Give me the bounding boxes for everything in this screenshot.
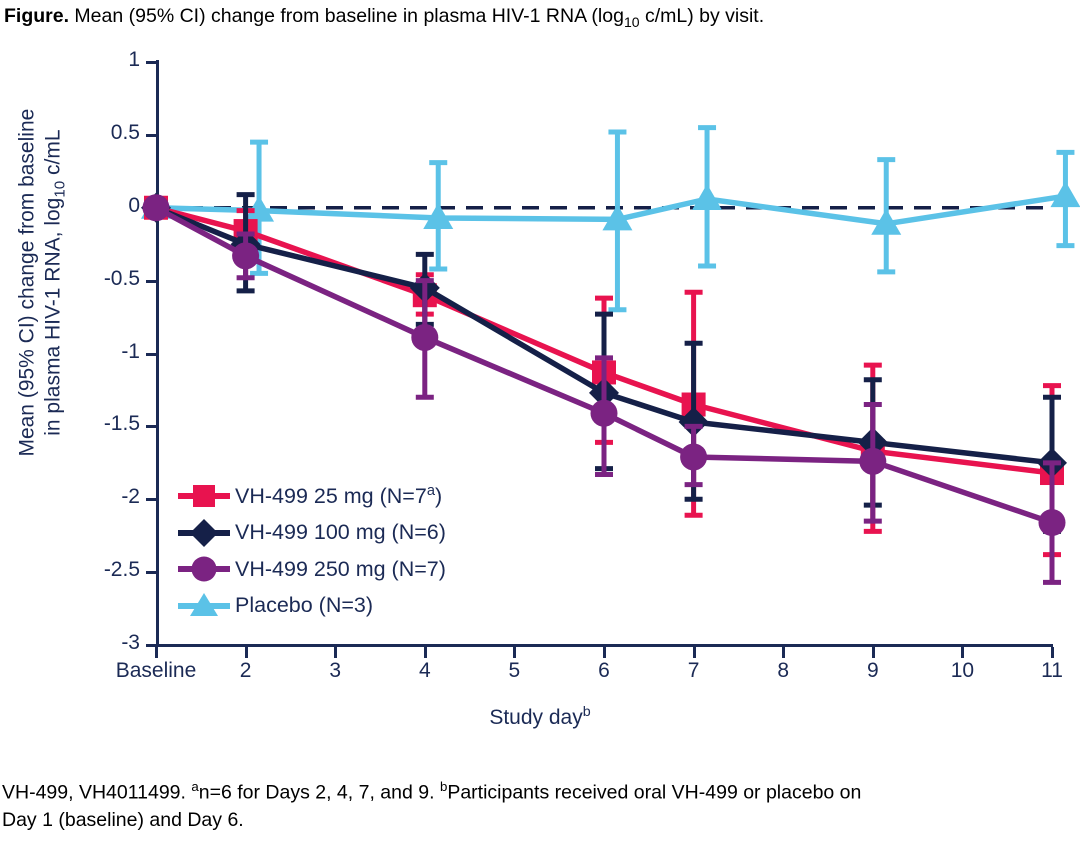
- x-axis-tick-label: 11: [1041, 659, 1063, 683]
- y-axis-tick: [146, 425, 156, 428]
- figure-caption: Figure. Mean (95% CI) change from baseli…: [4, 4, 1076, 31]
- legend-label-text-end: ): [435, 484, 442, 508]
- x-axis-title-text: Study day: [489, 706, 582, 729]
- legend-label: VH-499 250 mg (N=7): [235, 557, 446, 582]
- x-axis-title-superscript-b: b: [583, 704, 591, 720]
- x-axis-tick: [961, 647, 964, 658]
- x-axis-tick: [245, 647, 248, 658]
- caption-text-a: Mean (95% CI) change from baseline in pl…: [69, 5, 624, 27]
- marker-triangle: [1050, 181, 1080, 207]
- y-axis-tick: [146, 353, 156, 356]
- x-axis-tick: [155, 647, 158, 658]
- y-axis-title-line2-a: in plasma HIV-1 RNA, log: [41, 198, 64, 436]
- legend-vh499-25mg[interactable]: VH-499 25 mg (N=7a): [178, 478, 446, 515]
- x-axis-tick: [872, 647, 875, 658]
- x-axis-tick: [693, 647, 696, 658]
- legend-label-text: Placebo (N=3): [235, 593, 373, 617]
- x-axis-tick-label: 9: [867, 659, 879, 683]
- footnote-text-a: VH-499, VH4011499.: [2, 782, 191, 804]
- legend-marker-shape: [178, 551, 230, 587]
- marker-circle: [591, 400, 618, 427]
- y-axis-tick-label: -3: [8, 631, 140, 655]
- y-axis-tick: [146, 571, 156, 574]
- marker-triangle: [692, 184, 722, 210]
- caption-sub-10: 10: [624, 14, 640, 30]
- footnote-line-1: VH-499, VH4011499. an=6 for Days 2, 4, 7…: [2, 778, 1078, 807]
- y-axis-tick: [146, 280, 156, 283]
- marker-circle: [859, 448, 886, 475]
- caption-text-b: c/mL) by visit.: [640, 5, 765, 27]
- x-axis-tick-label: 10: [951, 659, 974, 683]
- legend-marker-diamond-icon: [178, 523, 230, 543]
- marker-circle: [1039, 509, 1066, 536]
- y-axis-tick: [146, 134, 156, 137]
- y-axis-title-line2-b: c/mL: [41, 129, 64, 180]
- chart-legend: VH-499 25 mg (N=7a)VH-499 100 mg (N=6)VH…: [178, 478, 446, 624]
- y-axis-title-sub-10: 10: [51, 181, 68, 198]
- x-axis-tick: [782, 647, 785, 658]
- legend-marker-shape: [178, 478, 230, 514]
- series-triangle: [141, 128, 1080, 310]
- x-axis-tick: [513, 647, 516, 658]
- legend-label-superscript: a: [427, 483, 435, 499]
- x-axis-tick-label: Baseline: [116, 659, 197, 683]
- y-axis-tick-label: 1: [8, 48, 140, 72]
- footnote-superscript-a: a: [191, 779, 198, 794]
- x-axis-tick-label: 5: [509, 659, 521, 683]
- marker-circle: [411, 324, 438, 351]
- footnote-line-2: Day 1 (baseline) and Day 6.: [2, 807, 1078, 835]
- footnote-text-b: n=6 for Days 2, 4, 7, and 9.: [199, 782, 440, 804]
- y-axis-tick: [146, 61, 156, 64]
- legend-marker-square-icon: [178, 486, 230, 506]
- legend-label-text: VH-499 25 mg (N=7: [235, 484, 427, 508]
- y-axis-title: Mean (95% CI) change from baseline in pl…: [14, 73, 69, 493]
- x-axis-title: Study dayb: [0, 704, 1080, 730]
- legend-marker-shape: [178, 588, 230, 624]
- legend-label: Placebo (N=3): [235, 593, 373, 618]
- x-axis-tick: [334, 647, 337, 658]
- x-axis-tick-label: 6: [598, 659, 610, 683]
- legend-label-text: VH-499 250 mg (N=7): [235, 557, 446, 581]
- x-axis-tick: [1051, 647, 1054, 658]
- x-axis-tick-label: 7: [688, 659, 700, 683]
- x-axis-tick: [603, 647, 606, 658]
- marker-circle: [143, 194, 170, 221]
- x-axis-tick: [424, 647, 427, 658]
- marker-circle: [232, 242, 259, 269]
- legend-label: VH-499 100 mg (N=6): [235, 520, 446, 545]
- legend-marker-circle-icon: [178, 559, 230, 579]
- legend-marker-shape: [178, 515, 230, 551]
- figure-footnote: VH-499, VH4011499. an=6 for Days 2, 4, 7…: [2, 778, 1078, 835]
- x-axis-tick-label: 3: [329, 659, 341, 683]
- marker-circle: [680, 443, 707, 470]
- legend-label-text: VH-499 100 mg (N=6): [235, 520, 446, 544]
- y-axis-title-line2: in plasma HIV-1 RNA, log10 c/mL: [40, 73, 70, 493]
- x-axis-tick-label: 8: [777, 659, 789, 683]
- footnote-text-c: Participants received oral VH-499 or pla…: [447, 782, 861, 804]
- legend-placebo[interactable]: Placebo (N=3): [178, 588, 446, 625]
- caption-bold-prefix: Figure.: [4, 5, 69, 27]
- legend-vh499-100mg[interactable]: VH-499 100 mg (N=6): [178, 515, 446, 552]
- x-axis-tick-label: 4: [419, 659, 431, 683]
- y-axis-tick: [146, 498, 156, 501]
- y-axis-tick-label: -2.5: [8, 558, 140, 582]
- legend-marker-triangle-icon: [178, 596, 230, 616]
- y-axis-title-line1: Mean (95% CI) change from baseline: [14, 73, 40, 493]
- legend-label: VH-499 25 mg (N=7a): [235, 483, 442, 509]
- legend-vh499-250mg[interactable]: VH-499 250 mg (N=7): [178, 551, 446, 588]
- x-axis-tick-label: 2: [240, 659, 252, 683]
